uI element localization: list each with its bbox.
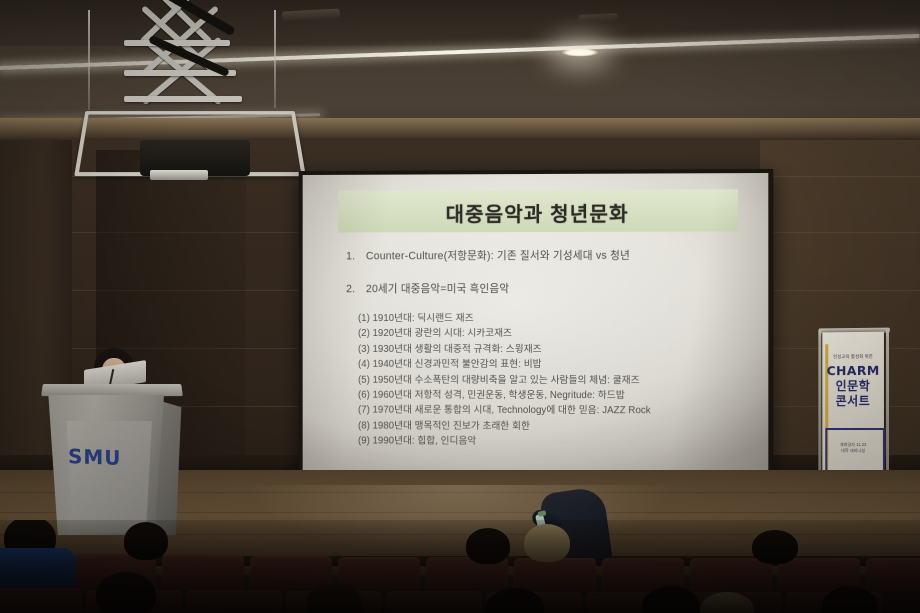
podium-front-panel bbox=[64, 421, 152, 533]
rig-cable bbox=[88, 10, 90, 110]
rig-crossplate bbox=[124, 40, 230, 46]
list-item: (3) 1930년대 생활의 대중적 규격화: 스윙재즈 bbox=[358, 342, 758, 358]
presentation-slide: 대중음악과 청년문화 1.Counter-Culture(저항문화): 기존 질… bbox=[303, 173, 769, 488]
item-text: Counter-Culture(저항문화): 기존 질서와 기성세대 vs 청년 bbox=[366, 250, 630, 263]
auditorium-scene: 대중음악과 청년문화 1.Counter-Culture(저항문화): 기존 질… bbox=[0, 0, 920, 613]
podium-top-surface bbox=[41, 384, 183, 396]
banner-date-line-2: 대학 세미나실 bbox=[822, 448, 884, 454]
item-number: 1. bbox=[346, 250, 366, 262]
list-item: (2) 1920년대 광란의 시대: 시카코재즈 bbox=[358, 326, 758, 342]
podium-logo: SMU bbox=[68, 444, 122, 470]
slide-numbered-item-2: 2.20세기 대중음악=미국 흑인음악 bbox=[346, 281, 509, 296]
list-item: (6) 1960년대 저항적 성격, 민권운동, 학생운동, Negritude… bbox=[358, 388, 758, 404]
list-item: (8) 1980년대 맹목적인 진보가 초래한 회한 bbox=[358, 418, 758, 434]
banner-date-info: 개최일자 11.23 대학 세미나실 bbox=[822, 442, 884, 454]
ceiling-light-hotspot bbox=[560, 48, 600, 57]
podium: SMU bbox=[36, 383, 186, 535]
slide-sub-list: (1) 1910년대: 딕시랜드 재즈 (2) 1920년대 광란의 시대: 시… bbox=[358, 311, 758, 451]
banner-tagline: 인성교육 활성화 위한 bbox=[822, 354, 884, 361]
banner-line-2: 콘서트 bbox=[822, 392, 884, 409]
audience-shadow-overlay bbox=[0, 520, 920, 613]
item-text: 20세기 대중음악=미국 흑인음악 bbox=[366, 283, 509, 295]
list-item: (1) 1910년대: 딕시랜드 재즈 bbox=[358, 311, 758, 327]
slide-numbered-item-1: 1.Counter-Culture(저항문화): 기존 질서와 기성세대 vs … bbox=[346, 248, 630, 264]
list-item: (9) 1990년대: 힙합, 인디음악 bbox=[358, 434, 758, 451]
list-item: (7) 1970년대 새로운 통합의 시대, Technology에 대한 믿음… bbox=[358, 403, 758, 419]
ceiling-projector-mount bbox=[62, 0, 312, 200]
list-item: (4) 1940년대 신경과민적 불안감의 표현: 비밥 bbox=[358, 357, 758, 373]
list-item: (5) 1950년대 수소폭탄의 대량비축을 알고 있는 사람들의 체념: 쿨재… bbox=[358, 372, 758, 388]
projector-lens bbox=[150, 170, 208, 180]
screen-surface: 대중음악과 청년문화 1.Counter-Culture(저항문화): 기존 질… bbox=[303, 173, 769, 488]
rig-cable bbox=[274, 10, 276, 108]
audience-area bbox=[0, 520, 920, 613]
slide-title: 대중음악과 청년문화 bbox=[338, 191, 738, 232]
projection-screen: 대중음악과 청년문화 1.Counter-Culture(저항문화): 기존 질… bbox=[299, 169, 774, 496]
rig-crossplate bbox=[124, 96, 242, 102]
item-number: 2. bbox=[346, 283, 366, 295]
